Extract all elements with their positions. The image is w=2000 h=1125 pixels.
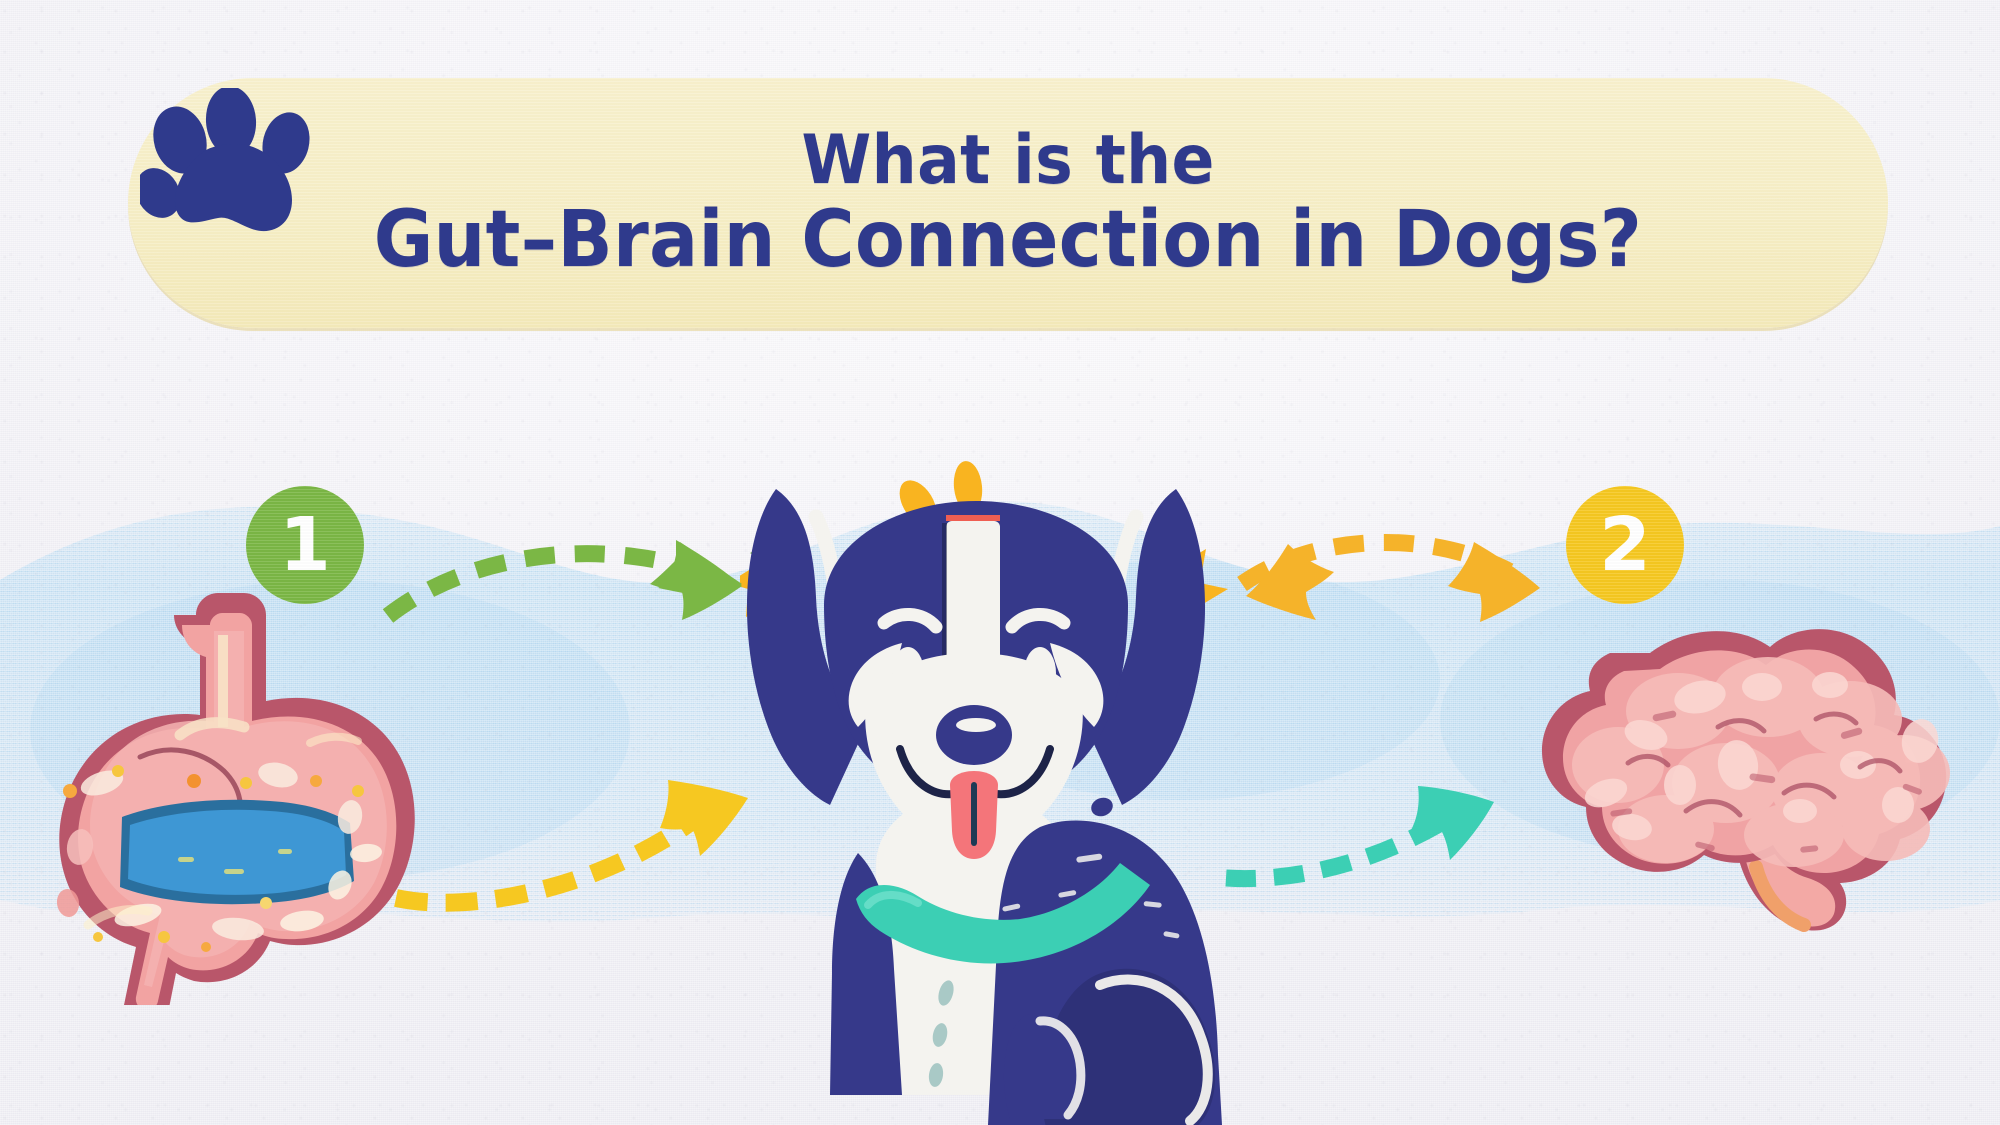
title-line-2: Gut–Brain Connection in Dogs? — [374, 201, 1643, 279]
dog-illustration — [740, 455, 1250, 1125]
step-badge-1-label: 1 — [279, 508, 331, 582]
infographic-canvas: What is the Gut–Brain Connection in Dogs… — [0, 0, 2000, 1125]
step-badge-2: 2 — [1566, 486, 1684, 604]
paw-print-icon — [140, 88, 330, 238]
title-line-1: What is the — [801, 127, 1214, 195]
gut-illustration — [10, 585, 450, 1005]
step-badge-2-label: 2 — [1599, 508, 1651, 582]
page-title: What is the Gut–Brain Connection in Dogs… — [128, 78, 1888, 328]
brain-illustration — [1500, 615, 1990, 945]
